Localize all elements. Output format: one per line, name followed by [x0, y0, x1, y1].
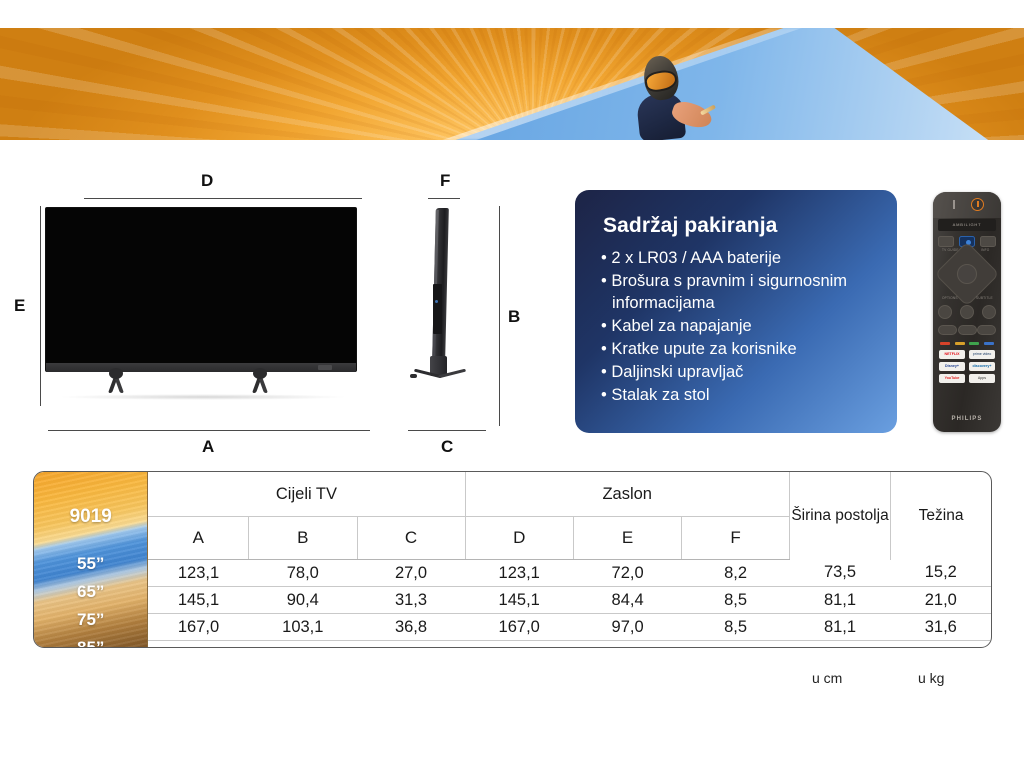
- size-label-55: 55”: [34, 554, 147, 574]
- info-label: INFO: [981, 248, 989, 252]
- remote-button-row-volume: [938, 325, 996, 335]
- tv-front-view: [38, 208, 363, 383]
- cell-65-f: 8,5: [682, 587, 790, 614]
- volume-rocker-icon: [938, 325, 957, 335]
- table-header-group-row: 9019 55” 65” 75” 85” Cijeli TV Zaslon Ši…: [34, 472, 991, 517]
- remote-top-panel: [933, 192, 1001, 218]
- dimline-d: [84, 198, 362, 199]
- cell-75-b: 103,1: [249, 614, 357, 641]
- tv-io-panel: [433, 284, 442, 334]
- subheader-e: E: [573, 517, 681, 560]
- cell-65-c: 31,3: [357, 587, 465, 614]
- back-button-icon: [938, 305, 952, 319]
- cell-55-f: 8,2: [682, 560, 790, 587]
- remote-button-row-nav: [938, 305, 996, 319]
- list-item: Brošura s pravnim i sigurnosnim informac…: [601, 271, 881, 315]
- cell-85-e: 108,7: [573, 641, 681, 649]
- dimlabel-c: C: [441, 438, 453, 455]
- ambilight-label: AMBILIGHT: [938, 219, 996, 231]
- dimline-b: [499, 206, 500, 426]
- power-button-icon: [971, 198, 984, 211]
- list-item: Stalak za stol: [601, 385, 881, 407]
- cell-85-stand-width: 81,4: [789, 641, 890, 649]
- app-shortcut-buttons: NETFLIX prime video Disney+ discovery+ Y…: [939, 350, 995, 386]
- dimlabel-d: D: [201, 172, 213, 189]
- cell-75-e: 97,0: [573, 614, 681, 641]
- youtube-button-icon: YouTube: [939, 374, 965, 383]
- size-label-85: 85”: [34, 638, 147, 648]
- dimline-e: [40, 206, 41, 406]
- cell-75-d: 167,0: [465, 614, 573, 641]
- cell-75-stand-width: 81,1: [789, 614, 890, 641]
- cell-85-c: 39,0: [357, 641, 465, 649]
- dimlabel-e: E: [14, 297, 25, 314]
- prime-video-button-icon: prime video: [969, 350, 995, 359]
- numeric-keys-icon: [958, 325, 977, 335]
- cell-65-e: 84,4: [573, 587, 681, 614]
- cell-85-b: 115,8: [249, 641, 357, 649]
- dimline-a: [48, 430, 370, 431]
- tv-screen: [46, 208, 356, 371]
- tv-bottom-bezel: [46, 363, 356, 372]
- philips-logo: PHILIPS: [933, 416, 1001, 422]
- package-contents-list: 2 x LR03 / AAA baterije Brošura s pravni…: [575, 248, 897, 407]
- subheader-a: A: [148, 517, 249, 560]
- cell-55-weight: 15,2: [891, 560, 991, 587]
- source-button-icon: [938, 236, 954, 247]
- package-contents-title: Sadržaj pakiranja: [575, 190, 897, 248]
- size-label-65: 65”: [34, 582, 147, 602]
- cell-75-c: 36,8: [357, 614, 465, 641]
- tv-stand-tip: [410, 374, 417, 378]
- list-item: 2 x LR03 / AAA baterije: [601, 248, 881, 270]
- cell-55-c: 27,0: [357, 560, 465, 587]
- table-row: 123,1 78,0 27,0 123,1 72,0 8,2 73,5 15,2: [34, 560, 991, 587]
- cell-85-weight: 48,6: [891, 641, 991, 649]
- cell-75-weight: 31,6: [891, 614, 991, 641]
- footnote-length-unit: u cm: [812, 670, 842, 686]
- cell-85-d: 189,4: [465, 641, 573, 649]
- tv-shadow: [58, 394, 348, 400]
- subheader-b: B: [249, 517, 357, 560]
- channel-rocker-icon: [977, 325, 996, 335]
- home-button-icon: [982, 305, 996, 319]
- dimlabel-a: A: [202, 438, 214, 455]
- cell-65-b: 90,4: [249, 587, 357, 614]
- model-thumbnail-cell: 9019 55” 65” 75” 85”: [34, 472, 148, 648]
- settings-button-icon: [980, 236, 996, 247]
- cell-65-weight: 21,0: [891, 587, 991, 614]
- skier-figure: [622, 56, 712, 140]
- dimline-c: [408, 430, 486, 431]
- table-row: 189,4 115,8 39,0 189,4 108,7 9,6 81,4 48…: [34, 641, 991, 649]
- ok-button-icon: [957, 264, 977, 284]
- discovery-button-icon: discovery+: [969, 362, 995, 371]
- cell-55-d: 123,1: [465, 560, 573, 587]
- cell-55-e: 72,0: [573, 560, 681, 587]
- hero-banner: [0, 28, 1024, 140]
- dimlabel-b: B: [508, 308, 520, 325]
- yellow-key-icon: [955, 342, 965, 345]
- cell-85-f: 9,6: [682, 641, 790, 649]
- red-key-icon: [940, 342, 950, 345]
- subheader-d: D: [465, 517, 573, 560]
- cell-65-a: 145,1: [148, 587, 249, 614]
- remote-indicator-icon: [953, 200, 955, 209]
- color-keys-row: [940, 342, 994, 345]
- subheader-f: F: [682, 517, 790, 560]
- cell-55-stand-width: 73,5: [789, 560, 890, 587]
- cell-75-a: 167,0: [148, 614, 249, 641]
- subtitle-label: SUBTITLE: [976, 296, 993, 300]
- list-item: Kabel za napajanje: [601, 316, 881, 338]
- cell-65-stand-width: 81,1: [789, 587, 890, 614]
- table-row: 167,0 103,1 36,8 167,0 97,0 8,5 81,1 31,…: [34, 614, 991, 641]
- tv-side-view: [408, 208, 488, 388]
- disney-plus-button-icon: Disney+: [939, 362, 965, 371]
- list-item: Kratke upute za korisnike: [601, 339, 881, 361]
- group-header-cijeli-tv: Cijeli TV: [148, 472, 465, 517]
- subheader-c: C: [357, 517, 465, 560]
- apps-button-icon: Apps: [969, 374, 995, 383]
- list-item: Daljinski upravljač: [601, 362, 881, 384]
- model-number-label: 9019: [34, 506, 147, 528]
- table-row: 145,1 90,4 31,3 145,1 84,4 8,5 81,1 21,0: [34, 587, 991, 614]
- group-header-tezina: Težina: [891, 472, 991, 560]
- dimlabel-f: F: [440, 172, 450, 189]
- tv-button-icon: [960, 305, 974, 319]
- philips-remote-control: AMBILIGHT TV GUIDE INFO OPTIONS SUBTITLE…: [933, 192, 1001, 432]
- specifications-table: 9019 55” 65” 75” 85” Cijeli TV Zaslon Ši…: [33, 471, 992, 648]
- group-header-zaslon: Zaslon: [465, 472, 789, 517]
- ir-sensor-icon: [318, 365, 332, 370]
- green-key-icon: [969, 342, 979, 345]
- cell-65-d: 145,1: [465, 587, 573, 614]
- cell-75-f: 8,5: [682, 614, 790, 641]
- cell-55-b: 78,0: [249, 560, 357, 587]
- tv-led-icon: [435, 300, 438, 303]
- package-contents-card: Sadržaj pakiranja 2 x LR03 / AAA baterij…: [575, 190, 897, 433]
- group-header-sirina-postolja: Širina postolja: [789, 472, 890, 560]
- dimline-f: [428, 198, 460, 199]
- size-label-75: 75”: [34, 610, 147, 630]
- cell-55-a: 123,1: [148, 560, 249, 587]
- footnote-weight-unit: u kg: [918, 670, 944, 686]
- blue-key-icon: [984, 342, 994, 345]
- netflix-button-icon: NETFLIX: [939, 350, 965, 359]
- cell-85-a: 189,4: [148, 641, 249, 649]
- options-label: OPTIONS: [942, 296, 958, 300]
